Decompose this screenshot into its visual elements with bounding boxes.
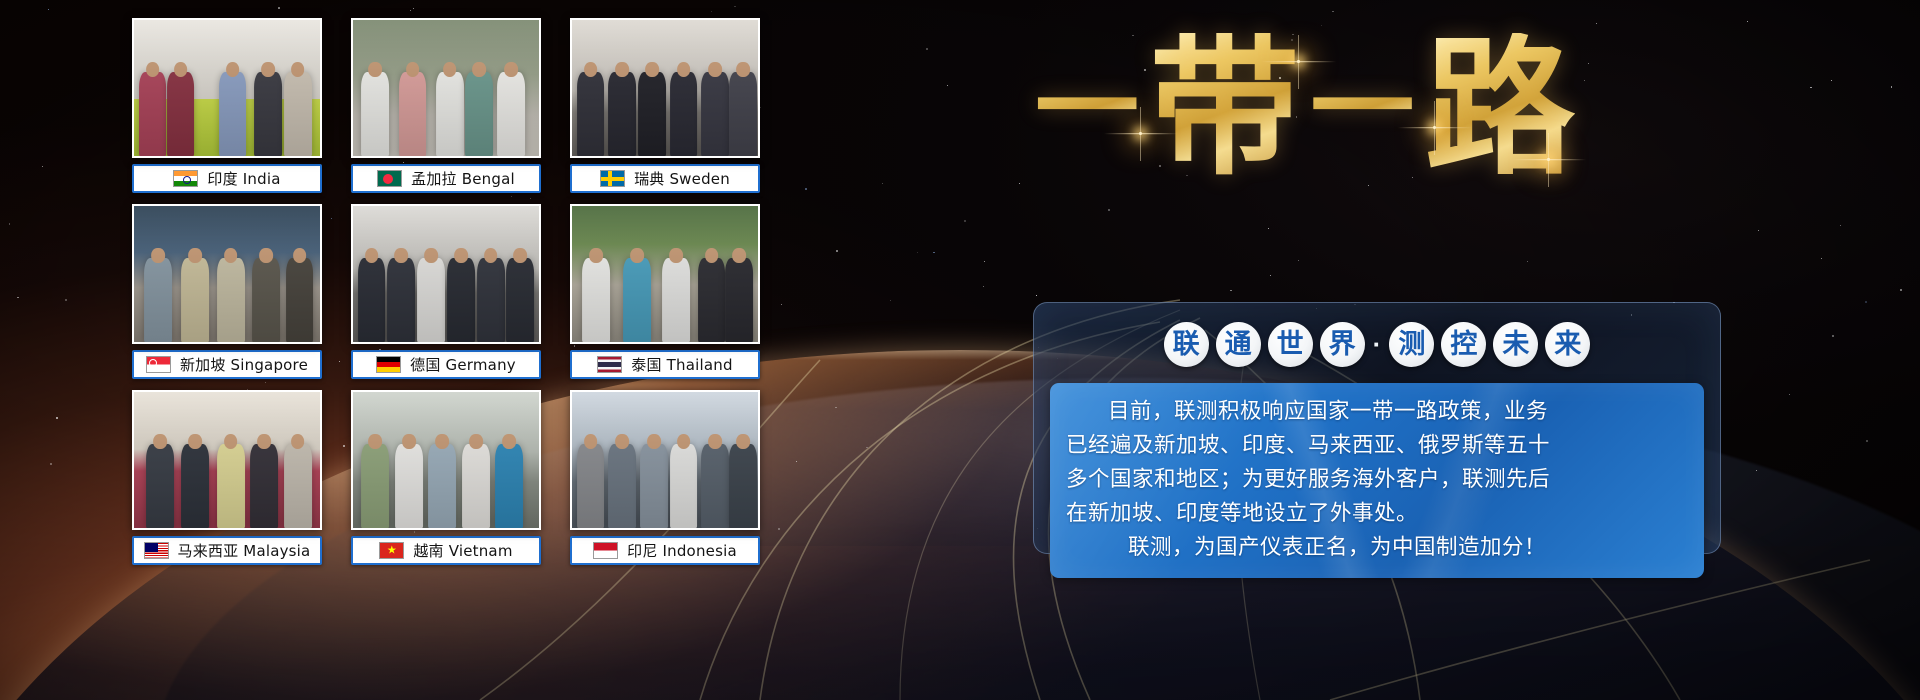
star-icon [796,461,797,462]
gallery-item-singapore[interactable]: 新加坡 Singapore [132,204,322,390]
gallery-photo [132,204,322,344]
star-icon [711,11,712,12]
gallery-caption-label: 印度 India [207,168,280,189]
sparkle-icon [1139,132,1142,135]
star-icon [410,10,411,11]
star-icon [413,8,414,9]
gallery-caption: 新加坡 Singapore [132,350,322,379]
star-icon [1596,23,1597,24]
gallery-caption-label: 孟加拉 Bengal [411,168,515,189]
star-icon [882,183,883,184]
headline-calligraphy: 一 带 一 路 [1035,8,1575,208]
description-line: 目前，联测积极响应国家一带一路政策，业务 [1066,395,1688,429]
gallery-item-india[interactable]: 印度 India [132,18,322,204]
headline-char-3: 一 [1310,56,1414,160]
gallery-photo [570,18,760,158]
gallery-caption-label: 马来西亚 Malaysia [178,540,311,561]
star-icon [964,220,966,222]
description-line: 联测，为国产仪表正名，为中国制造加分！ [1066,531,1688,565]
headline-char-1: 一 [1035,56,1139,160]
gallery-item-germany[interactable]: 德国 Germany [351,204,541,390]
gallery-item-vietnam[interactable]: 越南 Vietnam [351,390,541,576]
flag-bangladesh-icon [377,170,402,187]
flag-sweden-icon [600,170,625,187]
slogan-bead-6: 测 [1389,322,1434,367]
gallery-photo [351,204,541,344]
star-icon [1588,63,1589,64]
star-icon [983,286,984,287]
slogan-separator: · [1372,329,1383,360]
flag-india-icon [173,170,198,187]
star-icon [1527,261,1528,262]
star-icon [734,6,736,8]
gallery-photo [570,390,760,530]
flag-vietnam-icon [379,542,404,559]
gallery-caption-label: 德国 Germany [410,354,516,375]
description-line: 在新加坡、印度等地设立了外事处。 [1066,497,1688,531]
gallery-item-sweden[interactable]: 瑞典 Sweden [570,18,760,204]
star-icon [1747,21,1748,22]
headline-char-4: 路 [1425,33,1575,183]
gallery-photo [132,390,322,530]
gallery-caption-label: 越南 Vietnam [413,540,512,561]
star-icon [947,85,948,86]
gallery-caption: 孟加拉 Bengal [351,164,541,193]
star-icon [42,166,43,167]
gallery-photo [132,18,322,158]
description-box: 目前，联测积极响应国家一带一路政策，业务 已经遍及新加坡、印度、马来西亚、俄罗斯… [1050,383,1704,578]
star-icon [1821,258,1822,259]
flag-malaysia-icon [144,542,169,559]
gallery-caption-label: 泰国 Thailand [631,354,732,375]
star-icon [1840,225,1841,226]
star-icon [926,48,928,50]
star-icon [1036,295,1037,296]
gallery-photo [351,390,541,530]
slogan-bead-4: 界 [1320,322,1365,367]
star-icon [48,9,49,10]
star-icon [805,188,807,190]
flag-germany-icon [376,356,401,373]
country-photo-gallery: 印度 India孟加拉 Bengal瑞典 Sweden新加坡 Singapore… [132,18,760,576]
slogan-bead-8: 未 [1493,322,1538,367]
flag-indonesia-icon [593,542,618,559]
gallery-caption: 德国 Germany [351,350,541,379]
star-icon [1230,290,1231,291]
flag-thailand-icon [597,356,622,373]
headline-char-2: 带 [1150,33,1300,183]
star-icon [781,304,782,305]
star-icon [1865,301,1867,303]
star-icon [890,300,891,301]
slogan-bead-row: 联通世界·测控未来 [1050,317,1704,371]
gallery-item-thailand[interactable]: 泰国 Thailand [570,204,760,390]
slogan-bead-2: 通 [1216,322,1261,367]
star-icon [917,252,918,253]
gallery-photo [570,204,760,344]
sparkle-icon [1547,158,1550,161]
banner-stage: 印度 India孟加拉 Bengal瑞典 Sweden新加坡 Singapore… [0,0,1920,700]
gallery-item-malaysia[interactable]: 马来西亚 Malaysia [132,390,322,576]
slogan-bead-7: 控 [1441,322,1486,367]
gallery-caption-label: 瑞典 Sweden [634,168,730,189]
description-line: 多个国家和地区；为更好服务海外客户，联测先后 [1066,463,1688,497]
gallery-photo [351,18,541,158]
star-icon [1298,260,1299,261]
slogan-bead-1: 联 [1164,322,1209,367]
gallery-item-indonesia[interactable]: 印尼 Indonesia [570,390,760,576]
gallery-caption: 瑞典 Sweden [570,164,760,193]
star-icon [1756,470,1757,471]
gallery-caption: 越南 Vietnam [351,536,541,565]
sparkle-icon [1297,60,1300,63]
slogan-bead-3: 世 [1268,322,1313,367]
gallery-caption: 泰国 Thailand [570,350,760,379]
gallery-item-bengal[interactable]: 孟加拉 Bengal [351,18,541,204]
star-icon [1832,335,1834,337]
star-icon [1891,86,1892,87]
slogan-bead-9: 来 [1545,322,1590,367]
flag-singapore-icon [146,356,171,373]
star-icon [1268,228,1269,229]
star-icon [1108,209,1110,211]
gallery-caption-label: 新加坡 Singapore [180,354,308,375]
description-line: 已经遍及新加坡、印度、马来西亚、俄罗斯等五十 [1066,429,1688,463]
gallery-caption: 印度 India [132,164,322,193]
gallery-caption: 印尼 Indonesia [570,536,760,565]
gallery-caption-label: 印尼 Indonesia [627,540,737,561]
info-panel: 联通世界·测控未来 目前，联测积极响应国家一带一路政策，业务 已经遍及新加坡、印… [1033,302,1721,554]
sparkle-icon [1433,126,1436,129]
star-icon [278,7,280,9]
gallery-caption: 马来西亚 Malaysia [132,536,322,565]
